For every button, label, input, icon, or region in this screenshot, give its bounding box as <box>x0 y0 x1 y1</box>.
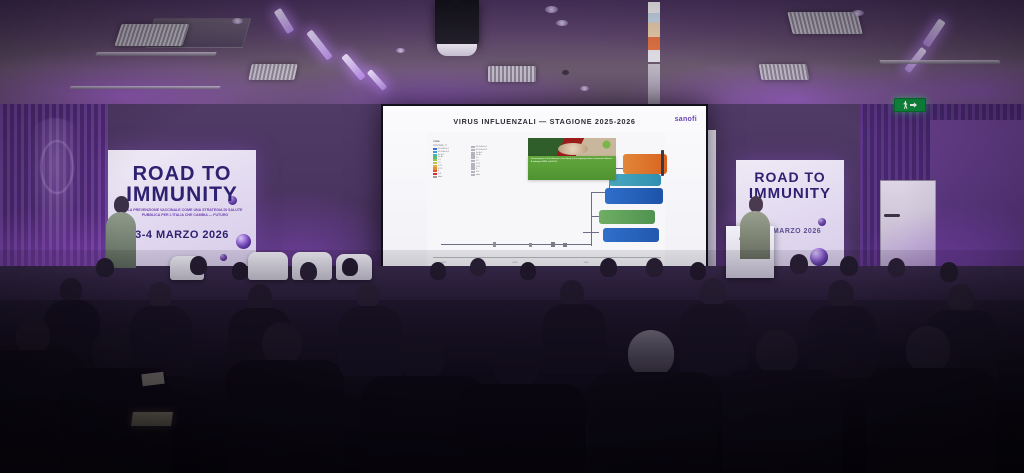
audience-head <box>560 280 584 306</box>
audience-body <box>338 306 402 376</box>
axis-tick-label: 2025 <box>584 262 589 264</box>
running-person-icon <box>903 101 908 109</box>
tree-tip <box>551 242 555 247</box>
audience-head <box>888 258 905 277</box>
audience-head <box>520 262 536 280</box>
tree-branch <box>441 244 591 245</box>
ceiling-spotlight <box>545 6 558 13</box>
audience-head <box>342 258 358 276</box>
ceiling-vent <box>488 66 536 82</box>
audience-head <box>828 280 854 308</box>
slide-callout-box: Increasing the risk of influenza in the … <box>528 156 616 180</box>
banner-title-line1: ROAD TO <box>108 164 256 184</box>
door-handle[interactable] <box>884 214 900 217</box>
ceiling-spotlight <box>556 20 568 26</box>
tree-tip <box>529 243 532 247</box>
tree-clade-teal <box>609 174 661 186</box>
speaker-head <box>114 196 129 213</box>
tree-branch <box>583 232 599 233</box>
audience-head <box>700 278 726 306</box>
audience-head <box>430 262 446 280</box>
sanofi-logo: sanofi <box>675 116 697 123</box>
ceiling-light-strip <box>341 53 366 80</box>
ceiling-spotlight <box>232 18 243 24</box>
tree-clade-blue <box>605 188 663 204</box>
banner-title-line1: ROAD TO <box>736 170 844 184</box>
audience-head <box>646 258 663 277</box>
ceiling <box>0 0 1024 112</box>
audience-head <box>400 334 444 380</box>
audience-head <box>940 262 958 282</box>
ceiling-vent <box>114 24 189 46</box>
callout-text: Increasing the risk of influenza in the … <box>528 156 616 166</box>
tree-highlight-bar <box>661 150 664 176</box>
audience-body <box>130 306 192 376</box>
audience-head <box>148 282 172 308</box>
audience-body <box>458 384 586 473</box>
ceiling-vent <box>248 64 297 80</box>
audience-head <box>790 254 808 274</box>
slide-title: VIRUS INFLUENZALI — STAGIONE 2025-2026 <box>383 117 706 126</box>
wall-decorative-motif <box>26 118 84 268</box>
banner-bubble <box>220 254 227 261</box>
audience-head <box>96 258 114 277</box>
ceiling-spotlight <box>396 48 405 53</box>
chart-x-axis <box>433 257 661 258</box>
speaker-head <box>749 196 763 212</box>
audience-head <box>840 256 858 276</box>
conference-hall-photo: ROAD TO IMMUNITY LA PREVENZIONE VACCINAL… <box>0 0 1024 473</box>
speaker-body <box>740 211 770 259</box>
arrow-right-icon <box>910 102 917 109</box>
ceiling-light-strip <box>922 18 945 47</box>
audience-head <box>906 326 950 372</box>
banner-bubble <box>810 248 828 266</box>
audience-head <box>190 256 207 275</box>
ceiling-spotlight <box>580 86 589 91</box>
audience-head-grey-hair <box>628 330 674 376</box>
audience-head <box>600 258 617 277</box>
tree-clade-blue-lower <box>603 228 659 242</box>
banner-bubble <box>818 218 826 226</box>
slide-content: Clade Subclade_V 3C.2a1b.2a.13C.2a1b.2a.… <box>427 132 665 272</box>
projector-lens <box>437 44 477 56</box>
ceiling-light-strip <box>274 8 295 34</box>
axis-tick-label: 2024 <box>512 262 517 264</box>
audience-head <box>262 322 302 364</box>
audience-body <box>808 306 876 378</box>
ceiling-seam <box>879 60 1000 64</box>
audience-head <box>300 262 317 281</box>
ceiling-sensor <box>562 70 569 75</box>
ceiling-light-strip <box>306 29 332 60</box>
banner-title-line2: IMMUNITY <box>108 184 256 205</box>
audience-body <box>588 372 718 473</box>
audience-head <box>494 340 540 388</box>
slide-photo <box>528 138 616 157</box>
tree-tip <box>493 242 496 247</box>
audience-head <box>948 284 974 312</box>
ceiling-vent <box>759 64 810 80</box>
ceiling-color-strip <box>648 2 660 62</box>
stage-armchair <box>248 252 288 280</box>
audience-head <box>60 278 82 302</box>
audience-head <box>232 262 248 280</box>
tree-clade-green <box>599 210 655 224</box>
ceiling-spotlight <box>852 10 864 16</box>
audience-laptop <box>131 412 173 426</box>
audience-body <box>866 368 996 473</box>
audience-head <box>690 262 706 280</box>
audience-body <box>680 304 748 376</box>
audience-body <box>226 360 344 473</box>
ceiling-projector <box>435 0 479 46</box>
audience-body <box>722 370 842 473</box>
audience-head <box>756 330 798 374</box>
who-logo-icon <box>600 140 613 152</box>
audience-head <box>248 284 272 310</box>
ceiling-seam <box>95 52 217 56</box>
audience-body <box>542 304 606 374</box>
tree-branch <box>591 192 592 246</box>
banner-subtitle: LA PREVENZIONE VACCINALE COME UNA STRATE… <box>126 208 244 219</box>
audience-head <box>356 282 380 308</box>
ceiling-seam <box>69 86 220 89</box>
audience-head <box>16 318 50 354</box>
ceiling-light-strip <box>367 69 388 91</box>
ceiling-vent <box>787 12 862 34</box>
audience-head <box>470 258 486 276</box>
emergency-exit-sign <box>894 98 926 112</box>
audience-head <box>92 330 132 372</box>
tree-tip <box>563 243 567 247</box>
